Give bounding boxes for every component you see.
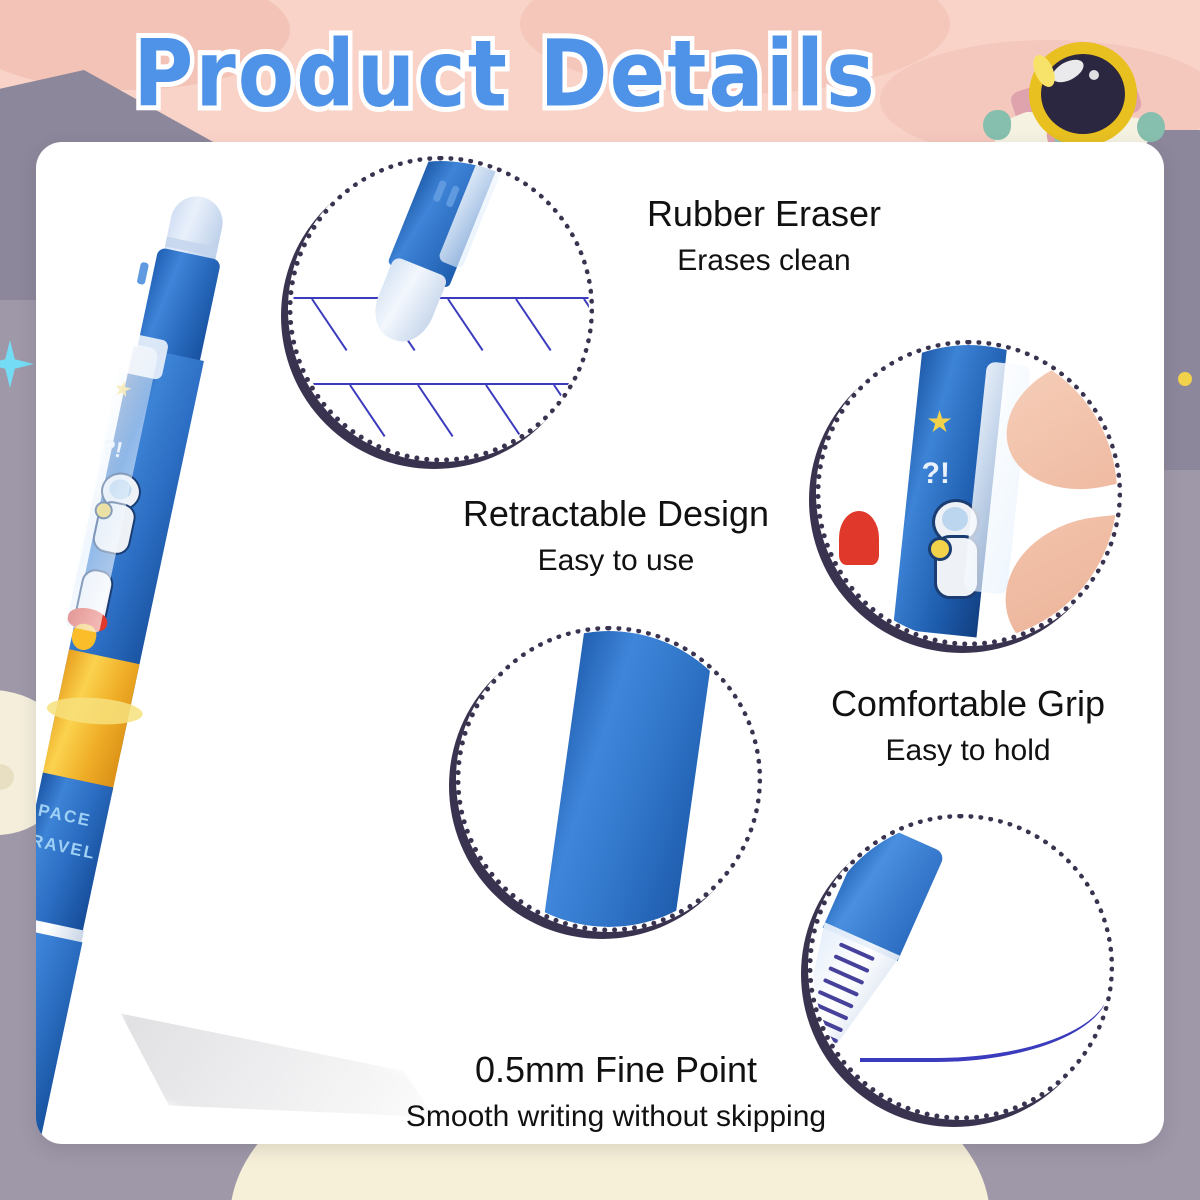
pen-brand-line2: TRAVEL [36, 828, 98, 863]
ink-stroke [860, 988, 1109, 1062]
feature-subtitle: Easy to use [416, 542, 816, 580]
page-title-area: Product Details [0, 18, 1010, 130]
star-dot-icon [1178, 372, 1192, 386]
feature-subtitle: Erases clean [584, 242, 944, 280]
callout-grip-closeup [456, 626, 762, 932]
feature-title: Comfortable Grip [788, 684, 1148, 724]
product-pen: ?! SPACETRAVEL [36, 187, 247, 1144]
content-card: ?! SPACETRAVEL [36, 142, 1164, 1144]
label-fine-point: 0.5mm Fine Point Smooth writing without … [366, 1050, 866, 1135]
feature-subtitle: Smooth writing without skipping [366, 1098, 866, 1136]
paper-lines [293, 297, 589, 409]
page-title: Product Details [133, 21, 877, 127]
infographic-canvas: Product Details ?! [0, 0, 1200, 1200]
feature-title: 0.5mm Fine Point [366, 1050, 866, 1090]
label-comfortable-grip: Comfortable Grip Easy to hold [788, 684, 1148, 769]
label-retractable-design: Retractable Design Easy to use [416, 494, 816, 579]
label-rubber-eraser: Rubber Eraser Erases clean [584, 194, 944, 279]
feature-subtitle: Easy to hold [788, 732, 1148, 770]
feature-title: Rubber Eraser [584, 194, 944, 234]
callout-rubber-eraser [288, 156, 594, 462]
feature-title: Retractable Design [416, 494, 816, 534]
callout-retractable-clicker: ?! [816, 340, 1122, 646]
finger-icon [997, 507, 1117, 641]
